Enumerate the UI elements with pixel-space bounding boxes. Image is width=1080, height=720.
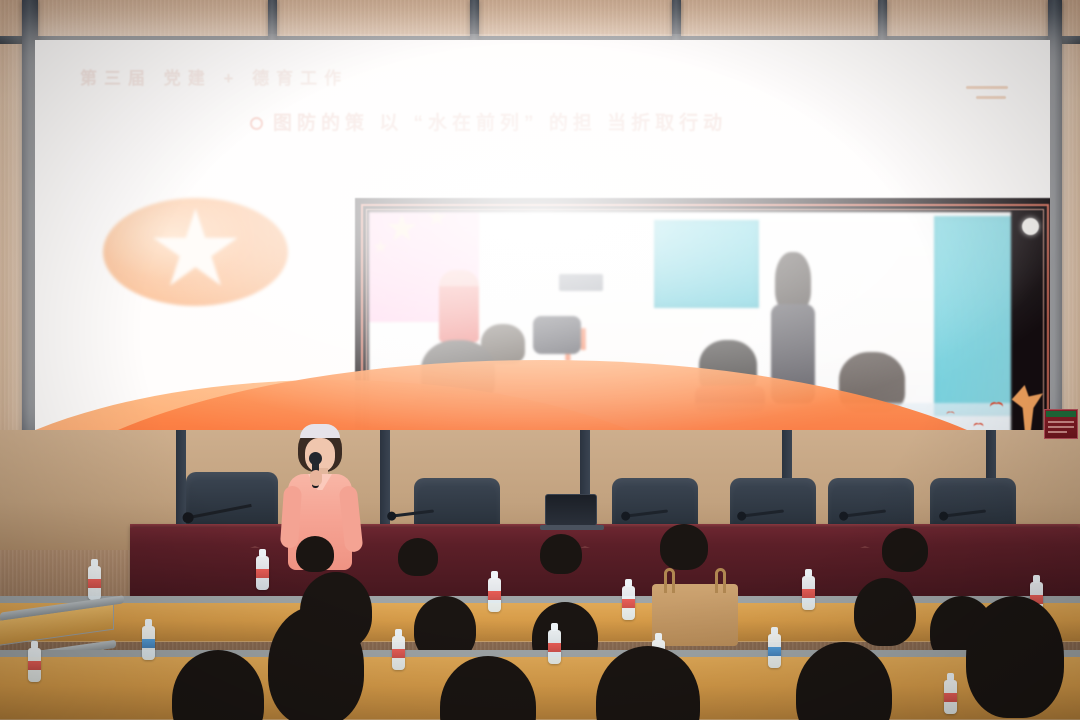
attendee-16 — [966, 596, 1064, 718]
water-bottle-12 — [944, 680, 957, 714]
wall-column-4 — [672, 0, 681, 42]
water-bottle-3 — [488, 578, 501, 612]
sign-text-line-2 — [1048, 426, 1074, 428]
audience-bench-row-2 — [0, 650, 1080, 720]
presenter-hand — [310, 470, 322, 486]
sign-text-line-1 — [1048, 421, 1074, 423]
water-bottle-8 — [548, 630, 561, 664]
slide-subtitle-text: 图防的策 以 “水在前列” 的担 当折取行动 — [273, 113, 727, 134]
microphone-head-icon — [309, 452, 322, 465]
bird-icon-3 — [947, 411, 955, 415]
bird-icon-1 — [990, 402, 1003, 409]
water-bottle-1 — [88, 566, 101, 600]
light-dot-icon — [1022, 218, 1039, 235]
water-bottle-10 — [768, 634, 781, 668]
chair-6 — [186, 472, 278, 530]
screenshot-root: 第三届 党建 + 德育工作 图防的策 以 “水在前列” 的担 当折取行动 — [0, 0, 1080, 720]
water-bottle-14 — [28, 648, 41, 682]
attendee-3 — [660, 524, 708, 570]
circle-bullet-icon — [250, 117, 263, 130]
fire-safety-sign — [1044, 409, 1078, 439]
water-bottle-4 — [622, 586, 635, 620]
sign-text-line-3 — [1048, 431, 1067, 433]
slide-subtitle: 图防的策 以 “水在前列” 的担 当折取行动 — [250, 108, 727, 135]
attendee-5 — [296, 536, 334, 572]
orange-ellipse-white-star-icon — [103, 198, 288, 306]
slide-header-title: 第三届 党建 + 德育工作 — [80, 64, 348, 89]
attendee-9 — [854, 578, 916, 646]
wall-column-3 — [470, 0, 479, 42]
attendee-1 — [398, 538, 438, 576]
water-bottle-7 — [392, 636, 405, 670]
attendee-4 — [882, 528, 928, 572]
bird-icon-2 — [974, 423, 984, 428]
wall-column-5 — [878, 0, 887, 42]
slide-header-text: 第三届 党建 + 德育工作 — [80, 69, 348, 88]
laptop — [545, 494, 597, 526]
attendee-12 — [268, 606, 364, 720]
two-line-decor-icon — [966, 86, 1008, 106]
water-bottle-2 — [256, 556, 269, 590]
presenter-headband — [300, 424, 340, 438]
table-panel-chevron-2 — [510, 546, 660, 576]
tote-bag — [652, 584, 738, 646]
presentation-slide: 第三届 党建 + 德育工作 图防的策 以 “水在前列” 的担 当折取行动 — [35, 40, 1050, 430]
attendee-2 — [540, 534, 582, 574]
sign-header-band — [1046, 411, 1076, 417]
decor-line-2 — [976, 96, 1006, 99]
wall-column-2 — [268, 0, 277, 42]
decor-line-1 — [966, 86, 1008, 89]
projection-screen: 第三届 党建 + 德育工作 图防的策 以 “水在前列” 的担 当折取行动 — [35, 40, 1050, 430]
water-bottle-5 — [802, 576, 815, 610]
water-bottle-13 — [142, 626, 155, 660]
